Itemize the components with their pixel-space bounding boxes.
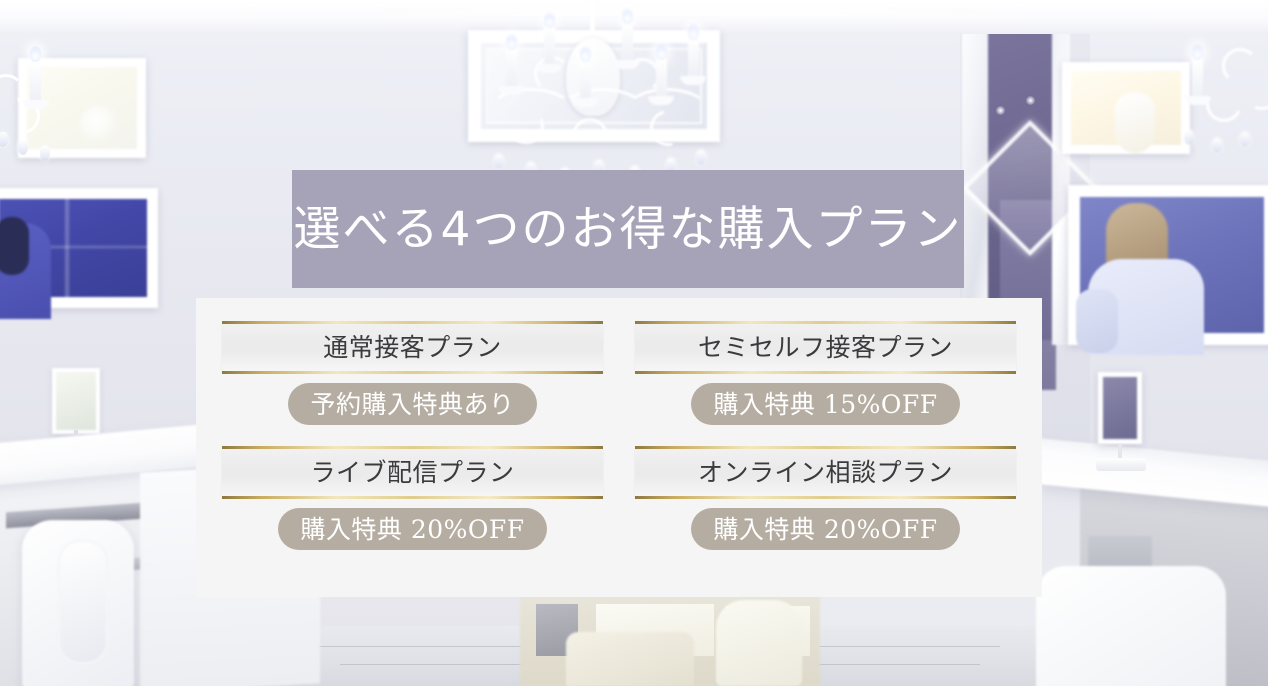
flame-icon (622, 8, 633, 24)
gold-rule (635, 321, 1016, 324)
plan-title: ライブ配信プラン (310, 460, 514, 485)
framed-niche-vase (1062, 62, 1190, 154)
plan-badge: 購入特典 20%OFF (278, 508, 546, 550)
center-stool (716, 600, 802, 686)
plan-card-normal[interactable]: 通常接客プラン 予約購入特典あり (222, 324, 603, 425)
right-chair (1036, 566, 1226, 686)
plan-card-online-consult[interactable]: オンライン相談プラン 購入特典 20%OFF (635, 449, 1016, 550)
flame-icon (1192, 44, 1203, 60)
crystal-drop (1184, 130, 1194, 145)
framed-screen-right (1068, 185, 1268, 345)
candle (580, 60, 591, 100)
plan-badge: 予約購入特典あり (288, 383, 536, 425)
plan-card-live-stream[interactable]: ライブ配信プラン 購入特典 20%OFF (222, 449, 603, 550)
mirror-base (1096, 458, 1146, 471)
flame-icon (688, 24, 699, 40)
flame-icon (506, 34, 517, 50)
candle (1192, 58, 1203, 98)
gold-rule (635, 371, 1016, 374)
framed-screen-left (0, 188, 158, 308)
plan-title-bar: セミセルフ接客プラン (635, 324, 1016, 371)
plan-title: 通常接客プラン (323, 335, 502, 360)
gold-rule (222, 446, 603, 449)
left-chair-pad (58, 540, 108, 664)
crystal-chandelier (474, 0, 720, 190)
flame-icon (656, 44, 667, 60)
plans-panel: 通常接客プラン 予約購入特典あり セミセルフ接客プラン 購入特典 15%OFF … (196, 298, 1042, 597)
candle (30, 62, 41, 102)
candle (506, 48, 517, 88)
crystal-drop (1240, 132, 1250, 147)
crystal-drop (18, 140, 28, 155)
crystal-drop (494, 154, 504, 169)
promo-banner-stage: 選べる4つのお得な購入プラン 通常接客プラン 予約購入特典あり セミセルフ接客プ… (0, 0, 1268, 686)
crystal-drop (40, 146, 50, 161)
candle (656, 58, 667, 98)
plan-title: セミセルフ接客プラン (698, 335, 953, 360)
plan-card-semi-self[interactable]: セミセルフ接客プラン 購入特典 15%OFF (635, 324, 1016, 425)
table-mirror-right (1098, 372, 1142, 444)
plan-title-bar: ライブ配信プラン (222, 449, 603, 496)
page-title: 選べる4つのお得な購入プラン (294, 206, 963, 253)
flame-icon (544, 12, 555, 28)
headline-banner: 選べる4つのお得な購入プラン (292, 170, 964, 288)
plan-title-bar: オンライン相談プラン (635, 449, 1016, 496)
gold-rule (222, 496, 603, 499)
person-hair (0, 217, 29, 275)
person-arm (1076, 289, 1118, 353)
crystal-drop (0, 132, 8, 147)
flame-icon (30, 46, 41, 62)
candle (544, 26, 555, 66)
gold-rule (222, 371, 603, 374)
table-mirror (52, 368, 100, 434)
sparkle-icon (996, 106, 1005, 115)
gold-rule (222, 321, 603, 324)
wall-sconce-right (1196, 30, 1268, 170)
flame-icon (580, 46, 591, 62)
plan-title: オンライン相談プラン (698, 460, 953, 485)
candle (688, 38, 699, 78)
candle (622, 22, 633, 62)
candle-cup (23, 100, 49, 109)
vase (1115, 93, 1155, 153)
plan-badge: 購入特典 20%OFF (691, 508, 959, 550)
gold-rule (635, 496, 1016, 499)
center-seat (566, 632, 694, 686)
gold-rule (635, 446, 1016, 449)
plan-badge: 購入特典 15%OFF (691, 383, 959, 425)
crystal-drop (696, 150, 706, 165)
sparkle-icon (1026, 96, 1035, 105)
plans-grid: 通常接客プラン 予約購入特典あり セミセルフ接客プラン 購入特典 15%OFF … (222, 324, 1016, 550)
wall-sconce-left (0, 36, 102, 166)
plan-title-bar: 通常接客プラン (222, 324, 603, 371)
crystal-drop (1212, 138, 1222, 153)
